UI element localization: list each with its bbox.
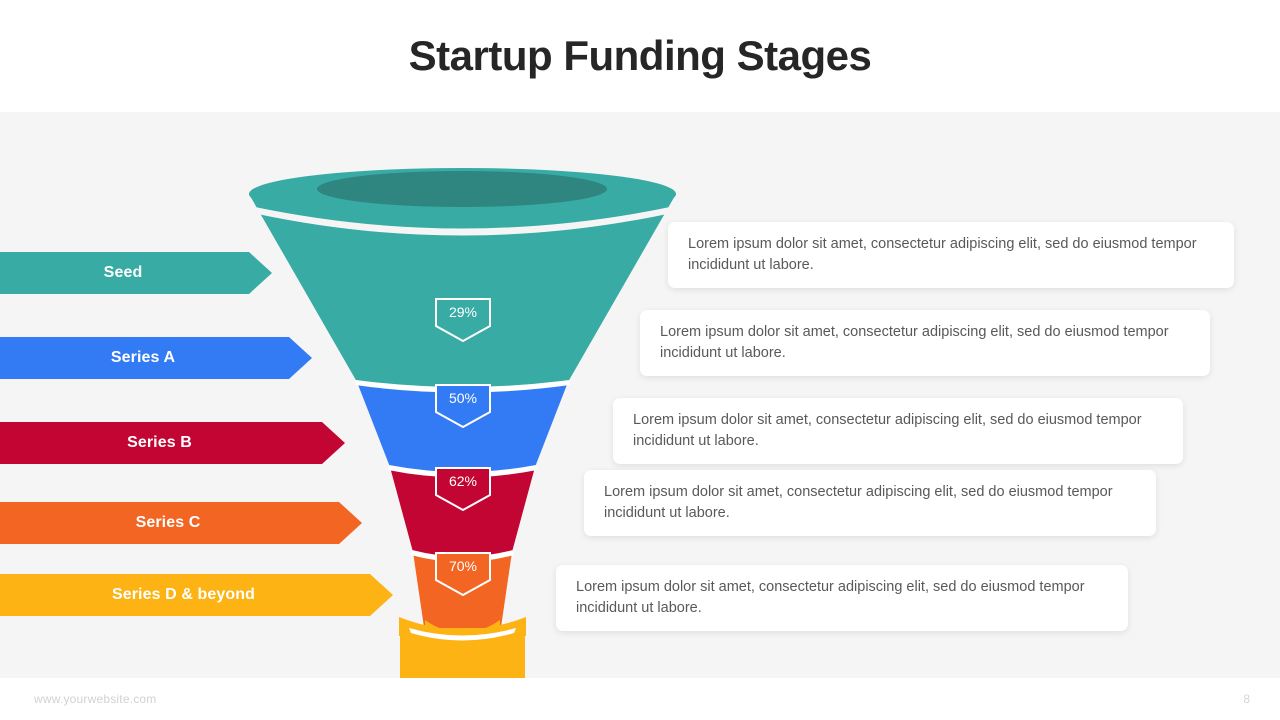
percent-value: 50% <box>449 390 477 406</box>
stage-label: Seed <box>104 264 169 282</box>
slide-header: Startup Funding Stages <box>0 0 1280 112</box>
percent-badge-series-a: 29% <box>435 298 491 342</box>
description-text: Lorem ipsum dolor sit amet, consectetur … <box>584 482 1156 523</box>
slide-body: Seed Series A Series B Series C Series D… <box>0 112 1280 678</box>
percent-badge-series-b: 50% <box>435 384 491 428</box>
slide-footer: www.yourwebsite.com 8 <box>0 678 1280 720</box>
description-card-series-a[interactable]: Lorem ipsum dolor sit amet, consectetur … <box>640 310 1210 376</box>
percent-value: 62% <box>449 473 477 489</box>
footer-page-number: 8 <box>1243 692 1250 706</box>
stage-label: Series A <box>111 349 201 367</box>
funnel-mouth <box>317 171 607 207</box>
description-card-seed[interactable]: Lorem ipsum dolor sit amet, consectetur … <box>668 222 1234 288</box>
stage-label: Series C <box>136 514 227 532</box>
stage-banner-series-b[interactable]: Series B <box>0 422 345 464</box>
stage-banner-series-a[interactable]: Series A <box>0 337 312 379</box>
stage-banner-series-d[interactable]: Series D & beyond <box>0 574 393 616</box>
footer-website-url[interactable]: www.yourwebsite.com <box>34 692 157 706</box>
percent-value: 70% <box>449 558 477 574</box>
description-text: Lorem ipsum dolor sit amet, consectetur … <box>668 234 1234 275</box>
percent-value: 29% <box>449 304 477 320</box>
stage-label: Series D & beyond <box>112 586 281 604</box>
description-card-series-c[interactable]: Lorem ipsum dolor sit amet, consectetur … <box>584 470 1156 536</box>
description-text: Lorem ipsum dolor sit amet, consectetur … <box>613 410 1183 451</box>
description-text: Lorem ipsum dolor sit amet, consectetur … <box>640 322 1210 363</box>
description-card-series-d[interactable]: Lorem ipsum dolor sit amet, consectetur … <box>556 565 1128 631</box>
percent-badge-series-d: 70% <box>435 552 491 596</box>
description-text: Lorem ipsum dolor sit amet, consectetur … <box>556 577 1128 618</box>
stage-banner-seed[interactable]: Seed <box>0 252 272 294</box>
stage-label: Series B <box>127 434 218 452</box>
description-card-series-b[interactable]: Lorem ipsum dolor sit amet, consectetur … <box>613 398 1183 464</box>
page-title: Startup Funding Stages <box>409 32 872 80</box>
stage-banner-series-c[interactable]: Series C <box>0 502 362 544</box>
percent-badge-series-c: 62% <box>435 467 491 511</box>
